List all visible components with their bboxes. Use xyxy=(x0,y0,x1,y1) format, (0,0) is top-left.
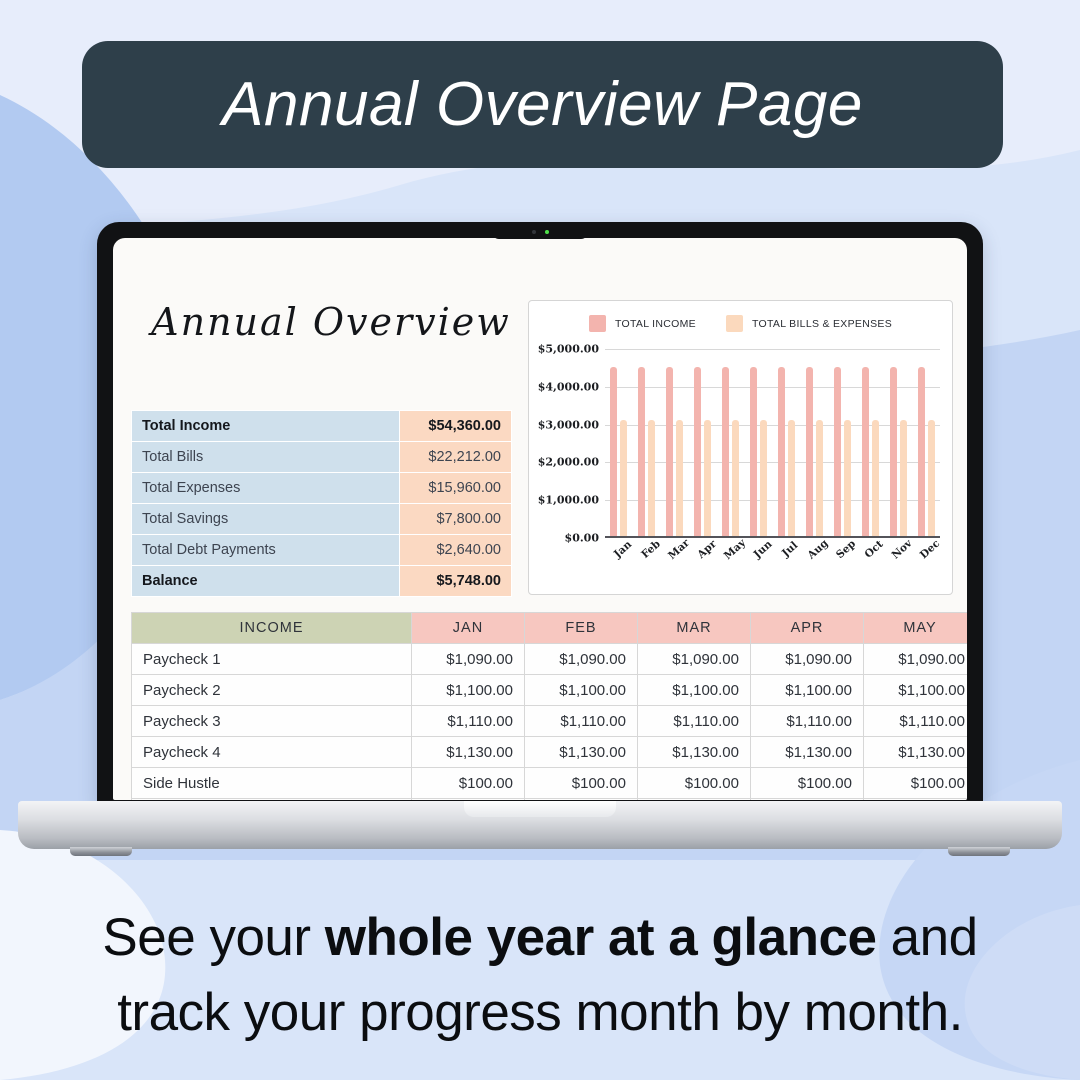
summary-row: Total Savings$7,800.00 xyxy=(132,504,512,535)
summary-row: Total Debt Payments$2,640.00 xyxy=(132,535,512,566)
income-cell[interactable]: $100.00 xyxy=(412,768,525,799)
caption-part-2: and xyxy=(876,908,977,967)
income-cell[interactable]: $1,100.00 xyxy=(525,675,638,706)
chart-bar-income xyxy=(722,367,729,538)
chart-month-group: Feb xyxy=(633,349,661,538)
chart-month-group: Nov xyxy=(884,349,912,538)
summary-row: Total Expenses$15,960.00 xyxy=(132,473,512,504)
table-row: Side Hustle$100.00$100.00$100.00$100.00$… xyxy=(132,768,968,799)
summary-row-label: Total Debt Payments xyxy=(132,535,400,566)
chart-month-group: Aug xyxy=(800,349,828,538)
chart-x-axis xyxy=(605,536,940,538)
chart-bars: JanFebMarAprMayJunJulAugSepOctNovDec xyxy=(605,349,940,538)
income-header-row: INCOMEJANFEBMARAPRMAY xyxy=(132,613,968,644)
chart-bar-income xyxy=(694,367,701,538)
caption-line-2: track your progress month by month. xyxy=(0,975,1080,1050)
income-table-head: INCOMEJANFEBMARAPRMAY xyxy=(132,613,968,644)
income-cell-empty[interactable] xyxy=(638,799,751,801)
chart-bar-expenses xyxy=(704,420,711,538)
legend-label: TOTAL BILLS & EXPENSES xyxy=(752,318,892,330)
laptop-notch xyxy=(492,224,588,239)
caption-bold: whole year at a glance xyxy=(325,908,877,967)
income-cell-empty[interactable] xyxy=(751,799,864,801)
income-cell[interactable]: $1,090.00 xyxy=(525,644,638,675)
chart-x-tick-label: Dec xyxy=(918,538,943,562)
income-cell-empty[interactable] xyxy=(864,799,968,801)
chart-x-tick-label: Jun xyxy=(751,538,774,560)
income-cell[interactable]: $1,110.00 xyxy=(864,706,968,737)
income-cell[interactable]: $1,130.00 xyxy=(638,737,751,768)
chart-month-group: Sep xyxy=(828,349,856,538)
summary-row-value: $22,212.00 xyxy=(400,442,512,473)
chart-bar-expenses xyxy=(788,420,795,538)
chart-x-tick-label: Nov xyxy=(890,537,915,561)
legend-item: TOTAL INCOME xyxy=(589,315,696,332)
summary-row-label: Total Expenses xyxy=(132,473,400,504)
caption-part-1: See your xyxy=(102,908,324,967)
income-cell[interactable]: $100.00 xyxy=(638,768,751,799)
chart-bar-expenses xyxy=(760,420,767,538)
summary-row: Total Income$54,360.00 xyxy=(132,411,512,442)
income-cell[interactable]: $1,090.00 xyxy=(412,644,525,675)
chart-bar-income xyxy=(638,367,645,538)
chart-month-group: Oct xyxy=(856,349,884,538)
income-cell[interactable]: $100.00 xyxy=(864,768,968,799)
chart-y-tick-label: $5,000.00 xyxy=(538,343,599,356)
chart-x-tick-label: Mar xyxy=(666,537,692,562)
chart-month-group: Jan xyxy=(605,349,633,538)
income-cell[interactable]: $100.00 xyxy=(751,768,864,799)
legend-item: TOTAL BILLS & EXPENSES xyxy=(726,315,892,332)
sheet-title: Annual Overview xyxy=(151,300,511,344)
camera-icon xyxy=(532,230,536,234)
chart-bar-income xyxy=(890,367,897,538)
income-cell-empty[interactable] xyxy=(412,799,525,801)
income-table-container[interactable]: INCOMEJANFEBMARAPRMAY Paycheck 1$1,090.0… xyxy=(131,612,967,800)
income-cell[interactable]: $100.00 xyxy=(525,768,638,799)
income-month-header[interactable]: MAR xyxy=(638,613,751,644)
chart-legend: TOTAL INCOMETOTAL BILLS & EXPENSES xyxy=(529,315,952,332)
income-cell[interactable]: $1,100.00 xyxy=(751,675,864,706)
laptop-base-notch xyxy=(464,801,616,817)
chart-bar-income xyxy=(862,367,869,538)
chart-bar-expenses xyxy=(620,420,627,538)
income-cell[interactable]: $1,110.00 xyxy=(412,706,525,737)
income-cell[interactable]: $1,090.00 xyxy=(864,644,968,675)
chart-x-tick-label: Jul xyxy=(780,539,800,559)
income-row-label[interactable]: Paycheck 2 xyxy=(132,675,412,706)
chart-x-tick-label: Oct xyxy=(863,538,886,561)
table-row xyxy=(132,799,968,801)
chart-bar-income xyxy=(806,367,813,538)
income-table-body: Paycheck 1$1,090.00$1,090.00$1,090.00$1,… xyxy=(132,644,968,801)
laptop-screen: Annual Overview Total Income$54,360.00To… xyxy=(113,238,967,800)
chart-bar-expenses xyxy=(732,420,739,538)
chart-y-tick-label: $4,000.00 xyxy=(538,380,599,393)
laptop-foot-right xyxy=(948,847,1010,856)
income-row-label[interactable]: Paycheck 1 xyxy=(132,644,412,675)
chart-bar-expenses xyxy=(900,420,907,538)
income-cell[interactable]: $1,090.00 xyxy=(751,644,864,675)
chart-bar-expenses xyxy=(928,420,935,538)
camera-indicator-icon xyxy=(545,230,549,234)
income-month-header[interactable]: JAN xyxy=(412,613,525,644)
chart-x-tick-label: May xyxy=(722,537,748,562)
chart-x-tick-label: Aug xyxy=(806,537,831,561)
chart-bar-income xyxy=(750,367,757,538)
header-banner: Annual Overview Page xyxy=(82,41,1003,168)
chart-month-group: Dec xyxy=(912,349,940,538)
table-row: Paycheck 2$1,100.00$1,100.00$1,100.00$1,… xyxy=(132,675,968,706)
chart-bar-income xyxy=(666,367,673,538)
spreadsheet-canvas: Annual Overview Total Income$54,360.00To… xyxy=(113,238,967,800)
summary-row-value: $5,748.00 xyxy=(400,566,512,597)
chart-bar-income xyxy=(918,367,925,538)
income-table: INCOMEJANFEBMARAPRMAY Paycheck 1$1,090.0… xyxy=(131,612,967,800)
chart-month-group: Apr xyxy=(689,349,717,538)
income-cell[interactable]: $1,110.00 xyxy=(638,706,751,737)
income-row-label[interactable]: Side Hustle xyxy=(132,768,412,799)
chart-month-group: May xyxy=(717,349,745,538)
chart-y-tick-label: $2,000.00 xyxy=(538,456,599,469)
legend-swatch-icon xyxy=(726,315,743,332)
table-row: Paycheck 1$1,090.00$1,090.00$1,090.00$1,… xyxy=(132,644,968,675)
summary-row: Total Bills$22,212.00 xyxy=(132,442,512,473)
table-row: Paycheck 4$1,130.00$1,130.00$1,130.00$1,… xyxy=(132,737,968,768)
caption-line-1: See your whole year at a glance and xyxy=(0,900,1080,975)
chart-month-group: Jun xyxy=(745,349,773,538)
chart-bar-expenses xyxy=(676,420,683,538)
income-cell[interactable]: $1,100.00 xyxy=(638,675,751,706)
income-row-label[interactable]: Paycheck 3 xyxy=(132,706,412,737)
chart-bar-income xyxy=(610,367,617,538)
summary-table: Total Income$54,360.00Total Bills$22,212… xyxy=(131,410,512,597)
income-category-header[interactable]: INCOME xyxy=(132,613,412,644)
caption: See your whole year at a glance and trac… xyxy=(0,900,1080,1051)
chart-bar-expenses xyxy=(872,420,879,538)
chart-bar-expenses xyxy=(816,420,823,538)
summary-row-value: $7,800.00 xyxy=(400,504,512,535)
table-row: Paycheck 3$1,110.00$1,110.00$1,110.00$1,… xyxy=(132,706,968,737)
summary-row-label: Total Bills xyxy=(132,442,400,473)
laptop-foot-left xyxy=(70,847,132,856)
chart-bar-expenses xyxy=(844,420,851,538)
chart-x-tick-label: Sep xyxy=(834,538,858,561)
chart-bar-income xyxy=(834,367,841,538)
chart-y-tick-label: $0.00 xyxy=(565,532,599,545)
chart-bar-expenses xyxy=(648,420,655,538)
chart-x-tick-label: Apr xyxy=(695,538,719,561)
income-cell-empty[interactable] xyxy=(132,799,412,801)
income-cell[interactable]: $1,110.00 xyxy=(525,706,638,737)
summary-row-label: Balance xyxy=(132,566,400,597)
legend-label: TOTAL INCOME xyxy=(615,318,696,330)
chart-plot-area: $0.00$1,000.00$2,000.00$3,000.00$4,000.0… xyxy=(605,349,940,538)
summary-row-value: $54,360.00 xyxy=(400,411,512,442)
chart-month-group: Jul xyxy=(773,349,801,538)
income-cell[interactable]: $1,100.00 xyxy=(864,675,968,706)
income-month-header[interactable]: APR xyxy=(751,613,864,644)
income-row-label[interactable]: Paycheck 4 xyxy=(132,737,412,768)
banner-title: Annual Overview Page xyxy=(222,69,863,140)
legend-swatch-icon xyxy=(589,315,606,332)
chart-x-tick-label: Jan xyxy=(612,539,634,561)
summary-row-label: Total Savings xyxy=(132,504,400,535)
chart-bar-income xyxy=(778,367,785,538)
income-month-header[interactable]: MAY xyxy=(864,613,968,644)
income-cell[interactable]: $1,130.00 xyxy=(864,737,968,768)
summary-row-value: $15,960.00 xyxy=(400,473,512,504)
income-cell[interactable]: $1,130.00 xyxy=(412,737,525,768)
income-cell[interactable]: $1,110.00 xyxy=(751,706,864,737)
chart-x-tick-label: Feb xyxy=(639,538,663,561)
summary-row-value: $2,640.00 xyxy=(400,535,512,566)
chart-y-tick-label: $3,000.00 xyxy=(538,418,599,431)
income-cell[interactable]: $1,100.00 xyxy=(412,675,525,706)
chart-month-group: Mar xyxy=(661,349,689,538)
income-month-header[interactable]: FEB xyxy=(525,613,638,644)
income-cell[interactable]: $1,130.00 xyxy=(751,737,864,768)
summary-row: Balance$5,748.00 xyxy=(132,566,512,597)
annual-bar-chart: TOTAL INCOMETOTAL BILLS & EXPENSES $0.00… xyxy=(528,300,953,595)
summary-table-body: Total Income$54,360.00Total Bills$22,212… xyxy=(132,411,512,597)
income-cell[interactable]: $1,130.00 xyxy=(525,737,638,768)
summary-row-label: Total Income xyxy=(132,411,400,442)
income-cell-empty[interactable] xyxy=(525,799,638,801)
chart-y-tick-label: $1,000.00 xyxy=(538,494,599,507)
income-cell[interactable]: $1,090.00 xyxy=(638,644,751,675)
